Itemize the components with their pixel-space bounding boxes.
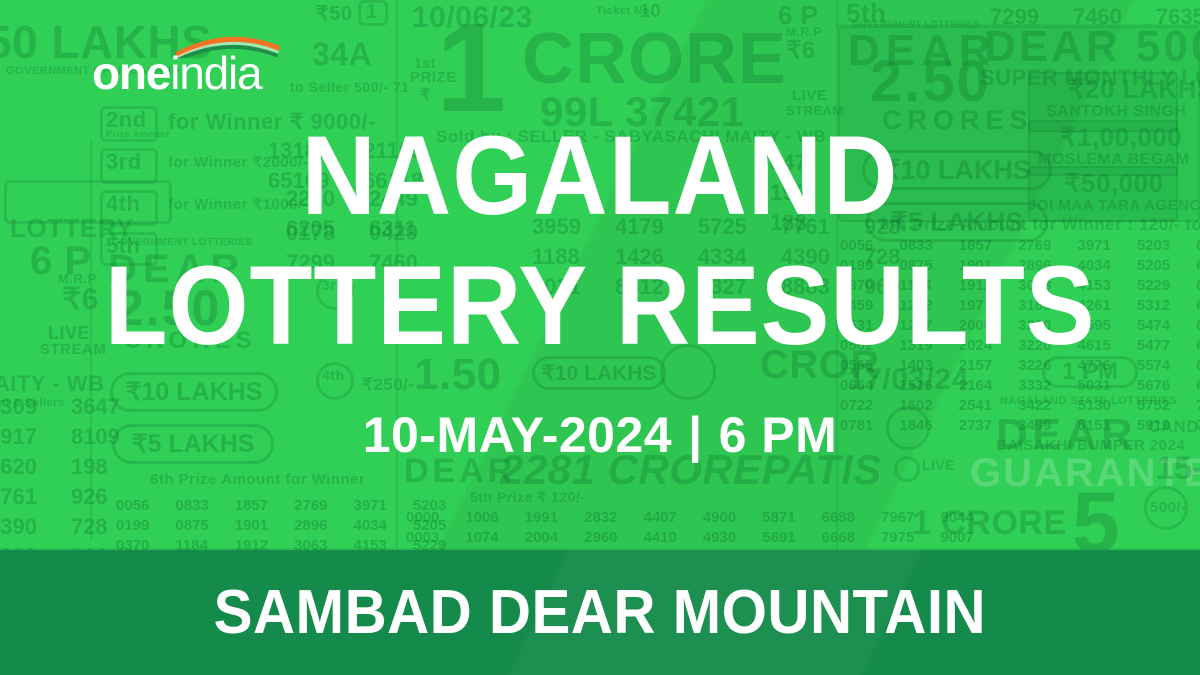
collage-one-crore-bumper: 1 CRORE	[912, 506, 1067, 542]
collage-winner-1: SANTOKH SINGH	[1046, 104, 1186, 121]
collage-crore-word: CRORE	[522, 22, 787, 98]
collage-ticket-50: ₹50	[316, 4, 352, 25]
collage-prize-20-lakhs: ₹20 LAKHS	[1068, 76, 1200, 103]
collage-rupee: ₹	[420, 88, 431, 105]
lottery-name-banner: SAMBAD DEAR MOUNTAIN	[0, 550, 1200, 675]
oneindia-logo[interactable]: oneindia	[92, 34, 292, 96]
collage-bumper-date: 17/03/24	[848, 364, 969, 396]
collage-divider-5	[836, 24, 1200, 26]
collage-badge-4th-amount: ₹250/-	[362, 376, 415, 394]
collage-seller-500: to Seller 500/- 71	[290, 80, 410, 95]
collage-6th-prize-line: 6th Prize Amount for Winner	[150, 472, 365, 488]
collage-prize-250-right: 2.50	[870, 52, 991, 113]
collage-live-right: LIVE	[792, 88, 827, 104]
draw-separator: |	[672, 407, 719, 463]
draw-date-time: 10-MAY-2024|6 PM	[0, 404, 1200, 466]
logo-bold-part: one	[92, 47, 170, 99]
collage-ticket-34a: 34A	[312, 38, 372, 72]
collage-dear-500: DEAR 500	[984, 24, 1200, 70]
logo-light-part: india	[170, 47, 261, 99]
lottery-result-banner: 50 LAKHS GOVERNMENT OF NAGALAND LOTTERY …	[0, 0, 1200, 675]
draw-time: 6 PM	[719, 407, 838, 463]
oneindia-logo-text: oneindia	[92, 48, 261, 98]
collage-5th-prize-line: 5th Prize ₹ 120/-	[470, 490, 585, 505]
draw-date: 10-MAY-2024	[363, 407, 672, 463]
collage-mrp-right-value: ₹6	[786, 38, 816, 63]
collage-ticket-1: 1	[366, 2, 378, 23]
collage-badge-4th: 4th	[322, 368, 345, 383]
collage-one-digit: 1	[436, 8, 507, 128]
collage-500-text: 500/-	[1150, 500, 1187, 516]
lottery-name-label: SAMBAD DEAR MOUNTAIN	[214, 578, 986, 648]
headline-line-1: NAGALAND	[48, 126, 1152, 226]
headline-line-2: LOTTERY RESULTS	[48, 256, 1152, 356]
